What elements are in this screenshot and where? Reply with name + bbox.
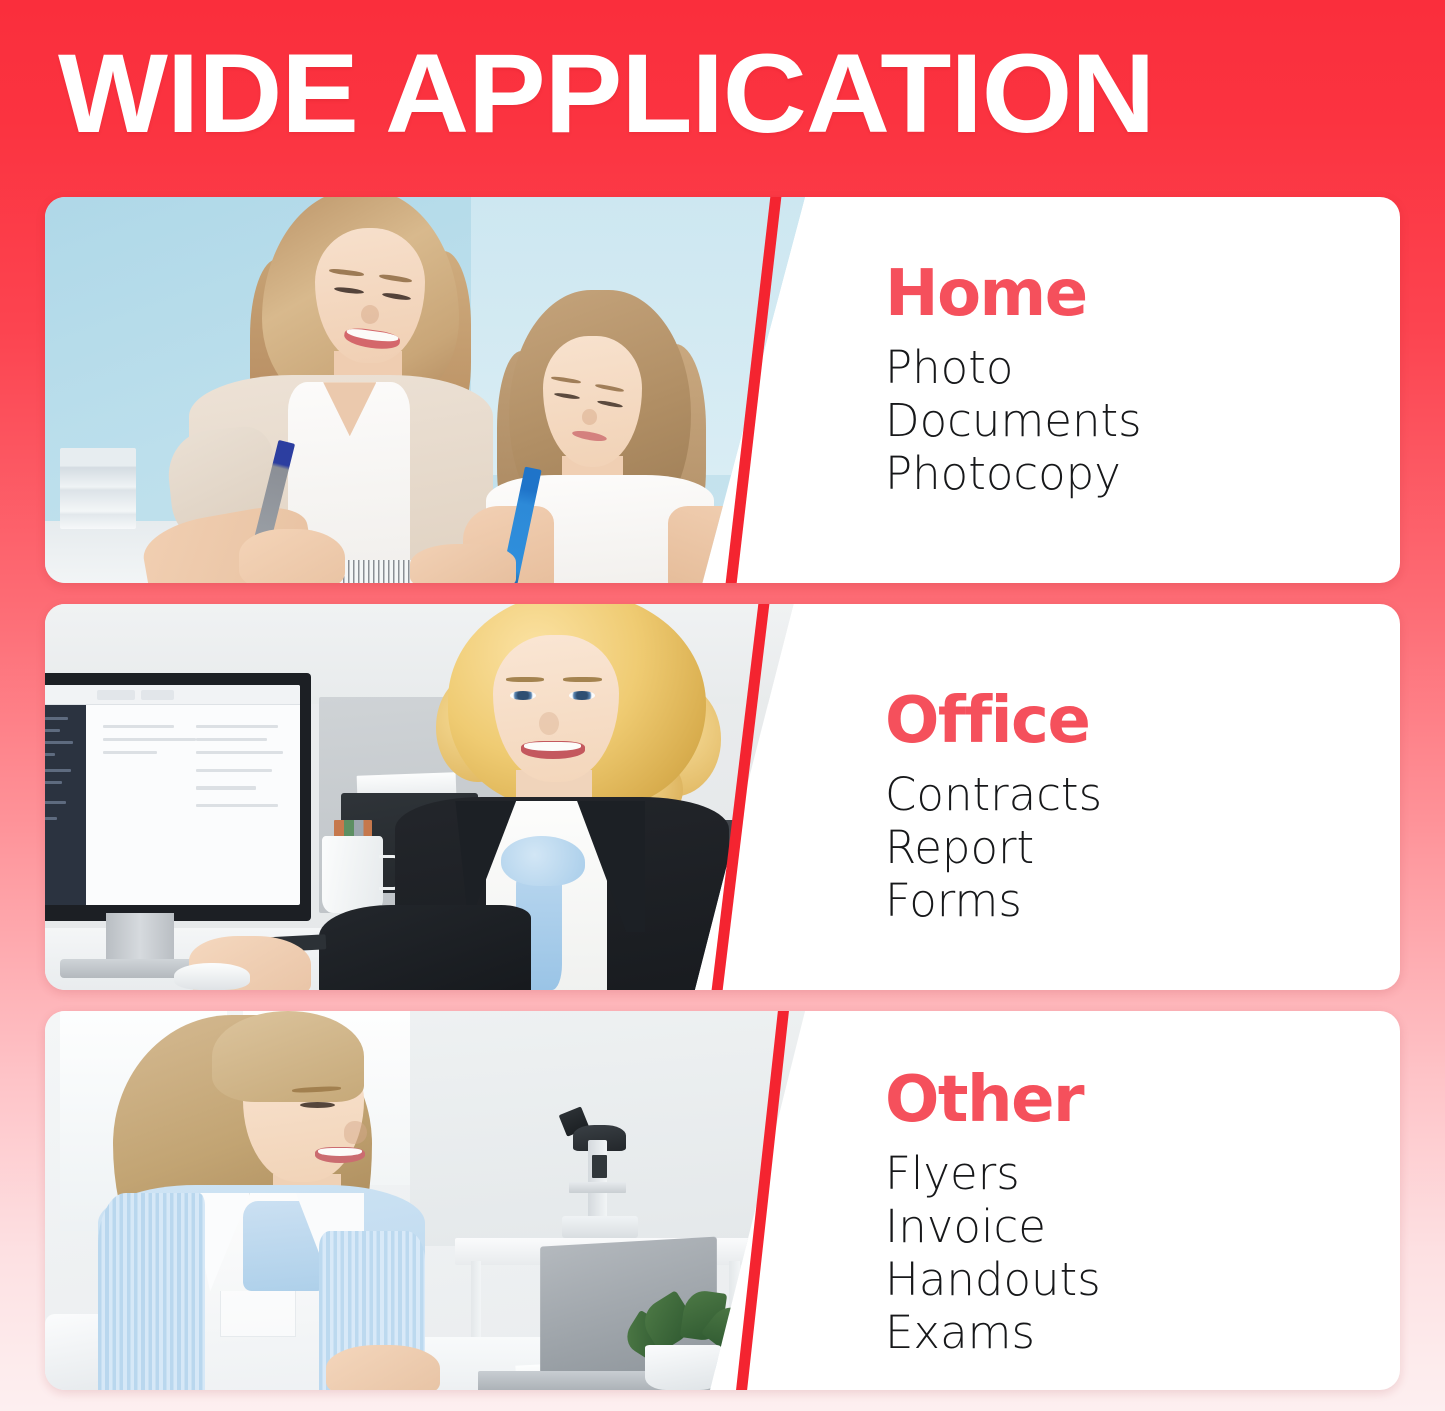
list-item: Exams (885, 1306, 1400, 1359)
card-item-list: Photo Documents Photocopy (840, 341, 1400, 500)
list-item: Photocopy (885, 447, 1400, 500)
application-card-home: Home Photo Documents Photocopy (45, 197, 1400, 583)
card-heading: Home (840, 259, 1400, 329)
card-text-block: Home Photo Documents Photocopy (840, 259, 1400, 500)
infographic-canvas: WIDE APPLICATION (0, 0, 1445, 1411)
businesswoman-at-desk-photo (45, 604, 805, 990)
list-item: Invoice (885, 1200, 1400, 1253)
list-item: Handouts (885, 1253, 1400, 1306)
card-item-list: Flyers Invoice Handouts Exams (840, 1147, 1400, 1359)
lab-technician-with-laptop-photo (45, 1011, 805, 1390)
list-item: Flyers (885, 1147, 1400, 1200)
card-heading: Office (840, 686, 1400, 756)
list-item: Photo (885, 341, 1400, 394)
list-item: Forms (885, 874, 1400, 927)
list-item: Contracts (885, 768, 1400, 821)
list-item: Report (885, 821, 1400, 874)
list-item: Documents (885, 394, 1400, 447)
card-text-block: Office Contracts Report Forms (840, 686, 1400, 927)
card-text-block: Other Flyers Invoice Handouts Exams (840, 1065, 1400, 1359)
application-card-other: Other Flyers Invoice Handouts Exams (45, 1011, 1400, 1390)
page-title: WIDE APPLICATION (58, 38, 1441, 150)
woman-and-girl-writing-photo (45, 197, 805, 583)
application-card-office: Office Contracts Report Forms (45, 604, 1400, 990)
card-heading: Other (840, 1065, 1400, 1135)
card-item-list: Contracts Report Forms (840, 768, 1400, 927)
